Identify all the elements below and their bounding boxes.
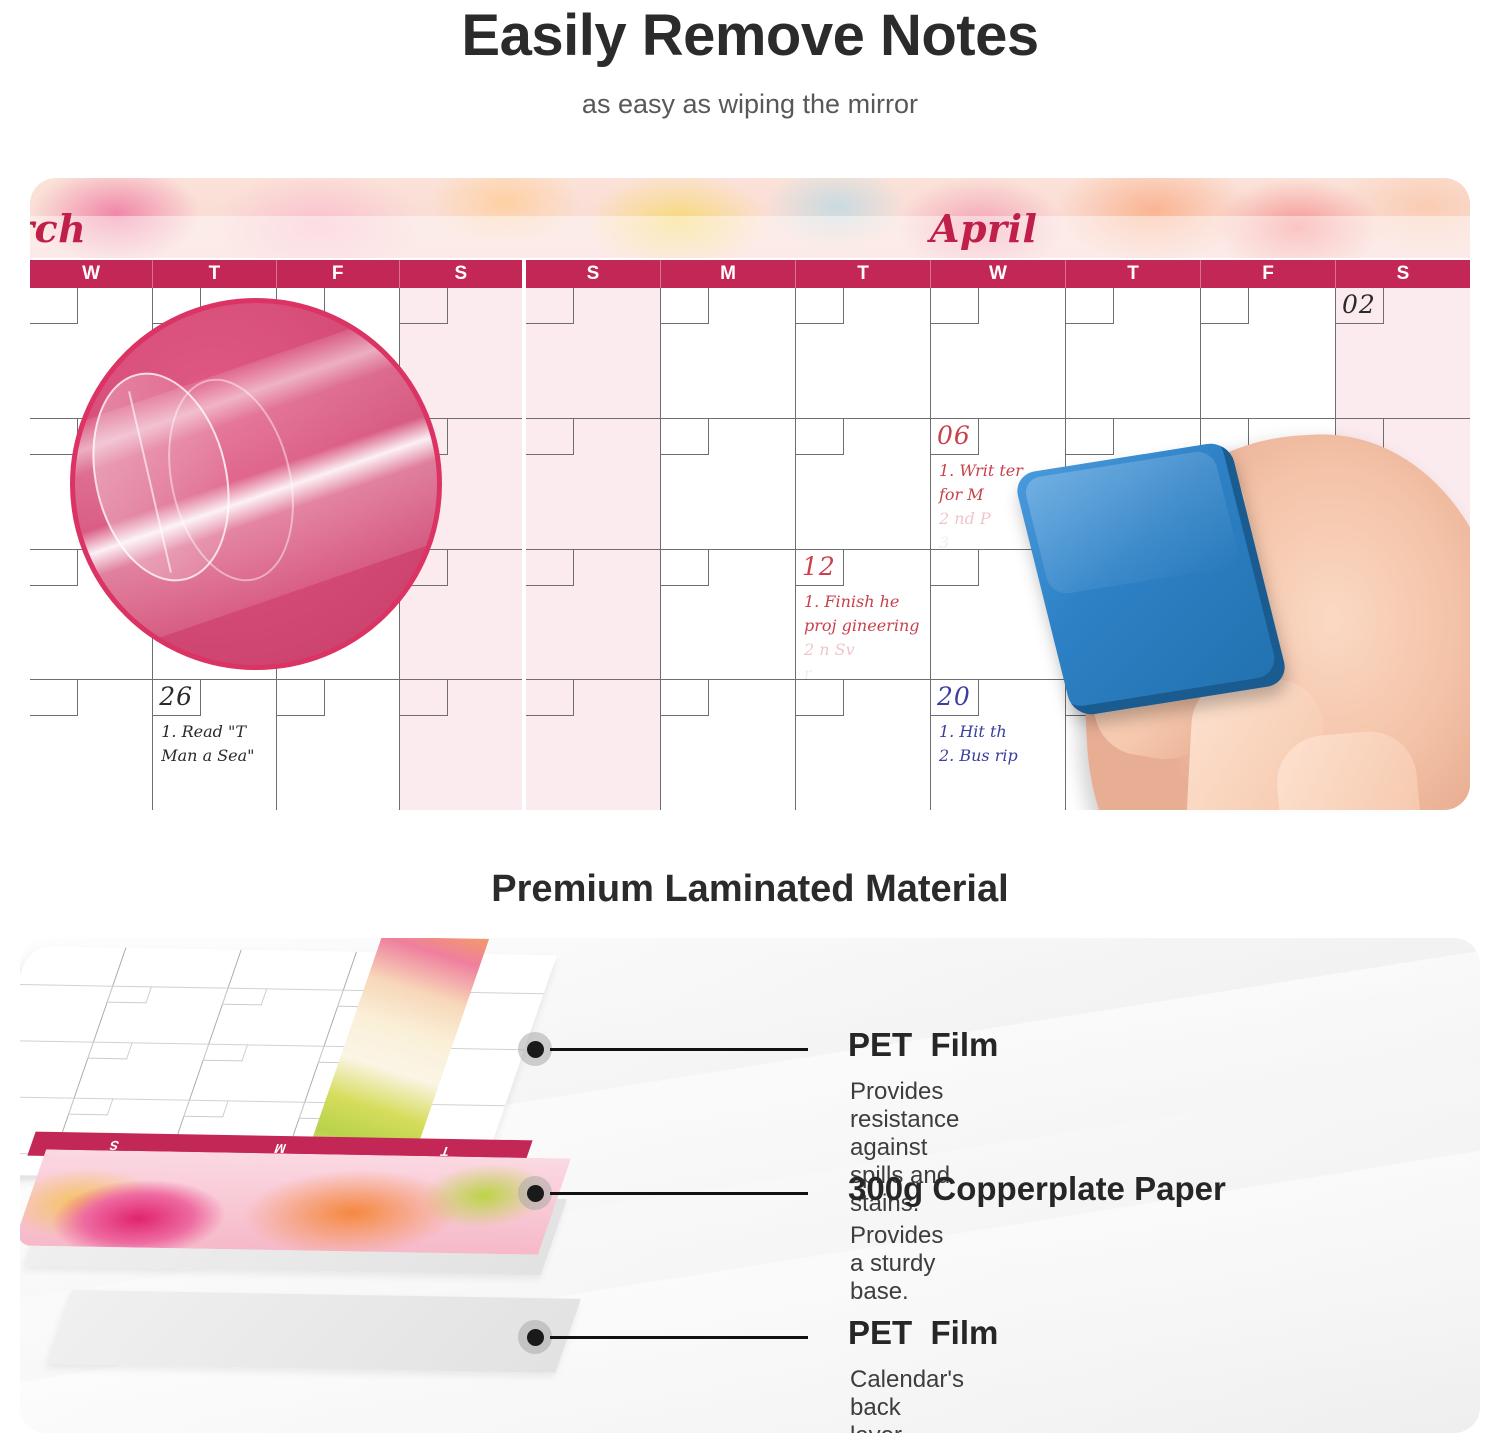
laminated-layers-card: S M T PET Film Provides resistance again… — [20, 938, 1480, 1433]
dow-cell: F — [1201, 260, 1336, 288]
calendar-column: 12 1. Finish he proj gineering 2 n Sv r — [796, 288, 931, 810]
calendar-cell[interactable] — [796, 680, 930, 810]
note-line: 2 n Sv — [804, 638, 926, 662]
dow-cell: S — [526, 260, 661, 288]
layer-description: Calendar's back layer. — [850, 1366, 964, 1433]
date-notch — [277, 680, 325, 716]
calendar-cell[interactable] — [400, 680, 522, 810]
note-line: 1. Finish he — [804, 590, 926, 614]
date-number: 12 — [802, 552, 836, 581]
dow-cell: W — [30, 260, 153, 288]
date-notch — [1066, 288, 1114, 324]
layer-sheet-bottom — [47, 1290, 581, 1373]
date-notch — [526, 680, 574, 716]
date-notch — [400, 680, 448, 716]
headline-block: Easily Remove Notes as easy as wiping th… — [0, 0, 1500, 120]
calendar-cell[interactable] — [1201, 288, 1335, 419]
note-line: 1. Read "T — [161, 720, 271, 744]
calendar-column — [661, 288, 796, 810]
callout-leader-line — [550, 1048, 808, 1051]
callout-dot-icon — [518, 1176, 552, 1210]
date-notch — [526, 419, 574, 455]
calendar-cell-26[interactable]: 26 1. Read "T Man a Sea" — [153, 680, 275, 810]
dow-cell: M — [661, 260, 796, 288]
calendar-cell[interactable] — [661, 419, 795, 550]
note-line: Man a Sea" — [161, 744, 271, 768]
date-notch — [796, 288, 844, 324]
calendar-cell[interactable] — [796, 288, 930, 419]
month-label-right: April — [930, 206, 1037, 251]
calendar-cell[interactable] — [661, 288, 795, 419]
date-notch — [30, 680, 78, 716]
dow-cell: T — [1066, 260, 1201, 288]
art-veil-overlay — [30, 216, 1470, 258]
date-number: 20 — [937, 682, 971, 711]
handwritten-note: 1. Finish he proj gineering 2 n Sv r — [804, 590, 926, 686]
page-subtitle: as easy as wiping the mirror — [0, 89, 1500, 120]
calendar-cell[interactable] — [277, 680, 399, 810]
date-notch — [1066, 419, 1114, 455]
note-line: 2. Bus rip — [939, 744, 1061, 768]
callout-leader-line — [550, 1192, 808, 1195]
calendar-cell-20[interactable]: 20 1. Hit th 2. Bus rip — [931, 680, 1065, 810]
calendar-cell[interactable] — [661, 680, 795, 810]
date-notch — [661, 419, 709, 455]
layer-title: PET Film — [848, 1026, 998, 1064]
calendar-cell[interactable] — [661, 550, 795, 681]
date-number: 06 — [937, 421, 971, 450]
date-notch — [30, 550, 78, 586]
page-title: Easily Remove Notes — [0, 6, 1500, 67]
date-notch — [526, 550, 574, 586]
calendar-column-weekend — [526, 288, 661, 810]
calendar-photo-card: rch April W T F S 26 — [30, 178, 1470, 810]
calendar-cell[interactable] — [526, 550, 660, 681]
watercolor-bottom-art — [20, 1149, 571, 1254]
callout-leader-line — [550, 1336, 808, 1339]
calendar-cell-12[interactable]: 12 1. Finish he proj gineering 2 n Sv r — [796, 550, 930, 681]
month-label-left: rch — [30, 206, 86, 251]
calendar-cell[interactable] — [931, 288, 1065, 419]
callout-dot-icon — [518, 1032, 552, 1066]
note-line: 1. Hit th — [939, 720, 1061, 744]
dow-cell: W — [931, 260, 1066, 288]
calendar-cell[interactable] — [30, 680, 152, 810]
date-number: 02 — [1342, 290, 1376, 319]
eraser-highlight — [1022, 449, 1241, 596]
pet-film-magnifier-icon — [70, 298, 442, 670]
calendar-cell[interactable] — [526, 288, 660, 419]
date-notch — [30, 288, 78, 324]
note-line: proj gineering — [804, 614, 926, 638]
date-number: 26 — [159, 682, 193, 711]
dow-cell: F — [277, 260, 400, 288]
date-notch — [661, 680, 709, 716]
date-notch — [796, 419, 844, 455]
dow-cell: T — [153, 260, 276, 288]
date-notch — [30, 419, 78, 455]
date-notch — [526, 288, 574, 324]
date-notch — [661, 288, 709, 324]
calendar-cell[interactable] — [796, 419, 930, 550]
layer-title: PET Film — [848, 1314, 998, 1352]
handwritten-note: 1. Hit th 2. Bus rip — [939, 720, 1061, 768]
calendar-cell-02[interactable]: 02 — [1336, 288, 1470, 419]
date-notch — [1201, 288, 1249, 324]
layer-description: Provides a sturdy base. — [850, 1222, 943, 1306]
calendar-cell[interactable] — [526, 680, 660, 810]
dow-cell: S — [1336, 260, 1470, 288]
layer-title: 300g Copperplate Paper — [848, 1170, 1226, 1208]
material-section-title: Premium Laminated Material — [0, 868, 1500, 911]
callout-dot-icon — [518, 1320, 552, 1354]
calendar-cell[interactable] — [526, 419, 660, 550]
date-notch — [796, 680, 844, 716]
day-of-week-row-left: W T F S — [30, 258, 522, 288]
day-of-week-row-right: S M T W T F S — [526, 258, 1470, 288]
date-notch — [661, 550, 709, 586]
dow-cell: T — [796, 260, 931, 288]
date-notch — [931, 550, 979, 586]
calendar-cell[interactable] — [1066, 288, 1200, 419]
date-notch — [931, 288, 979, 324]
handwritten-note: 1. Read "T Man a Sea" — [161, 720, 271, 768]
dow-cell: S — [400, 260, 522, 288]
